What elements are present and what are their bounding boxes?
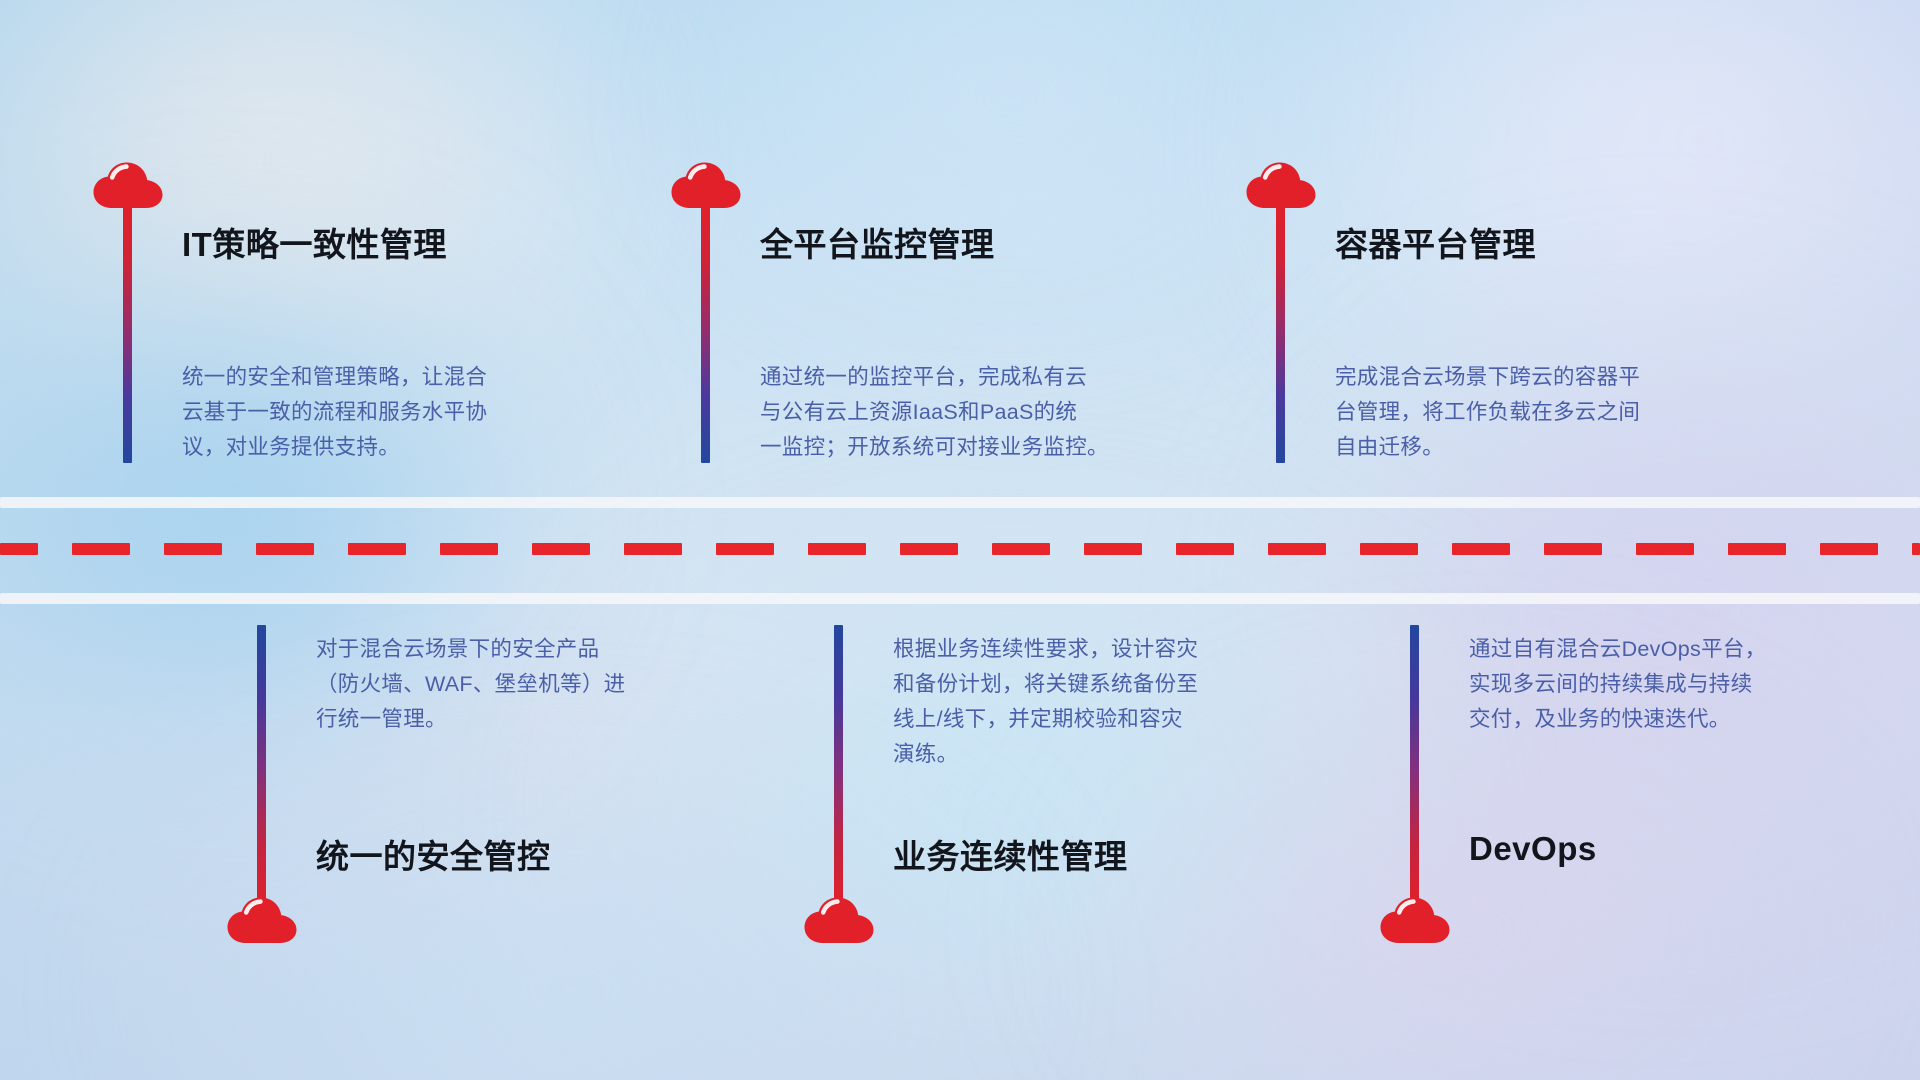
- cloud-icon: [670, 160, 742, 210]
- timeline-dash: [992, 543, 1050, 555]
- timeline-dash: [624, 543, 682, 555]
- cloud-icon: [803, 895, 875, 945]
- connector-stem: [834, 625, 843, 905]
- item-description: 通过自有混合云DevOps平台， 实现多云间的持续集成与持续 交付，及业务的快速…: [1469, 632, 1899, 737]
- connector-stem: [1276, 205, 1285, 463]
- item-title: 容器平台管理: [1335, 218, 1536, 266]
- item-description: 通过统一的监控平台，完成私有云 与公有云上资源IaaS和PaaS的统 一监控；开…: [760, 360, 1200, 465]
- item-description: 完成混合云场景下跨云的容器平 台管理，将工作负载在多云之间 自由迁移。: [1335, 360, 1775, 465]
- timeline-dash: [1912, 543, 1920, 555]
- item-description: 对于混合云场景下的安全产品 （防火墙、WAF、堡垒机等）进 行统一管理。: [316, 632, 736, 737]
- timeline-dash: [716, 543, 774, 555]
- item-title: 全平台监控管理: [760, 218, 995, 266]
- infographic-canvas: IT策略一致性管理 统一的安全和管理策略，让混合 云基于一致的流程和服务水平协 …: [0, 0, 1920, 1080]
- timeline-dash: [1820, 543, 1878, 555]
- timeline-dash: [1728, 543, 1786, 555]
- timeline-dash: [348, 543, 406, 555]
- timeline-dashed-line: [0, 543, 1920, 555]
- timeline-dash: [1452, 543, 1510, 555]
- timeline-dash: [256, 543, 314, 555]
- timeline-dash: [808, 543, 866, 555]
- connector-stem: [701, 205, 710, 463]
- item-title: 业务连续性管理: [893, 830, 1128, 878]
- item-title: IT策略一致性管理: [182, 218, 447, 266]
- timeline-dash: [1360, 543, 1418, 555]
- timeline-dash: [0, 543, 38, 555]
- connector-stem: [123, 205, 132, 463]
- timeline-rail-upper: [0, 497, 1920, 508]
- cloud-icon: [226, 895, 298, 945]
- timeline-dash: [72, 543, 130, 555]
- timeline-dash: [1544, 543, 1602, 555]
- cloud-icon: [1379, 895, 1451, 945]
- item-title: 统一的安全管控: [316, 830, 551, 878]
- timeline-dash: [1636, 543, 1694, 555]
- timeline-dash: [1268, 543, 1326, 555]
- cloud-icon: [1245, 160, 1317, 210]
- timeline-dash: [1176, 543, 1234, 555]
- timeline-dash: [1084, 543, 1142, 555]
- timeline-dash: [532, 543, 590, 555]
- timeline-dash: [440, 543, 498, 555]
- item-title: DevOps: [1469, 830, 1597, 868]
- connector-stem: [1410, 625, 1419, 905]
- item-description: 根据业务连续性要求，设计容灾 和备份计划，将关键系统备份至 线上/线下，并定期校…: [893, 632, 1323, 772]
- timeline-rail-lower: [0, 593, 1920, 604]
- timeline-dash: [900, 543, 958, 555]
- cloud-icon: [92, 160, 164, 210]
- item-description: 统一的安全和管理策略，让混合 云基于一致的流程和服务水平协 议，对业务提供支持。: [182, 360, 612, 465]
- connector-stem: [257, 625, 266, 905]
- timeline-dash: [164, 543, 222, 555]
